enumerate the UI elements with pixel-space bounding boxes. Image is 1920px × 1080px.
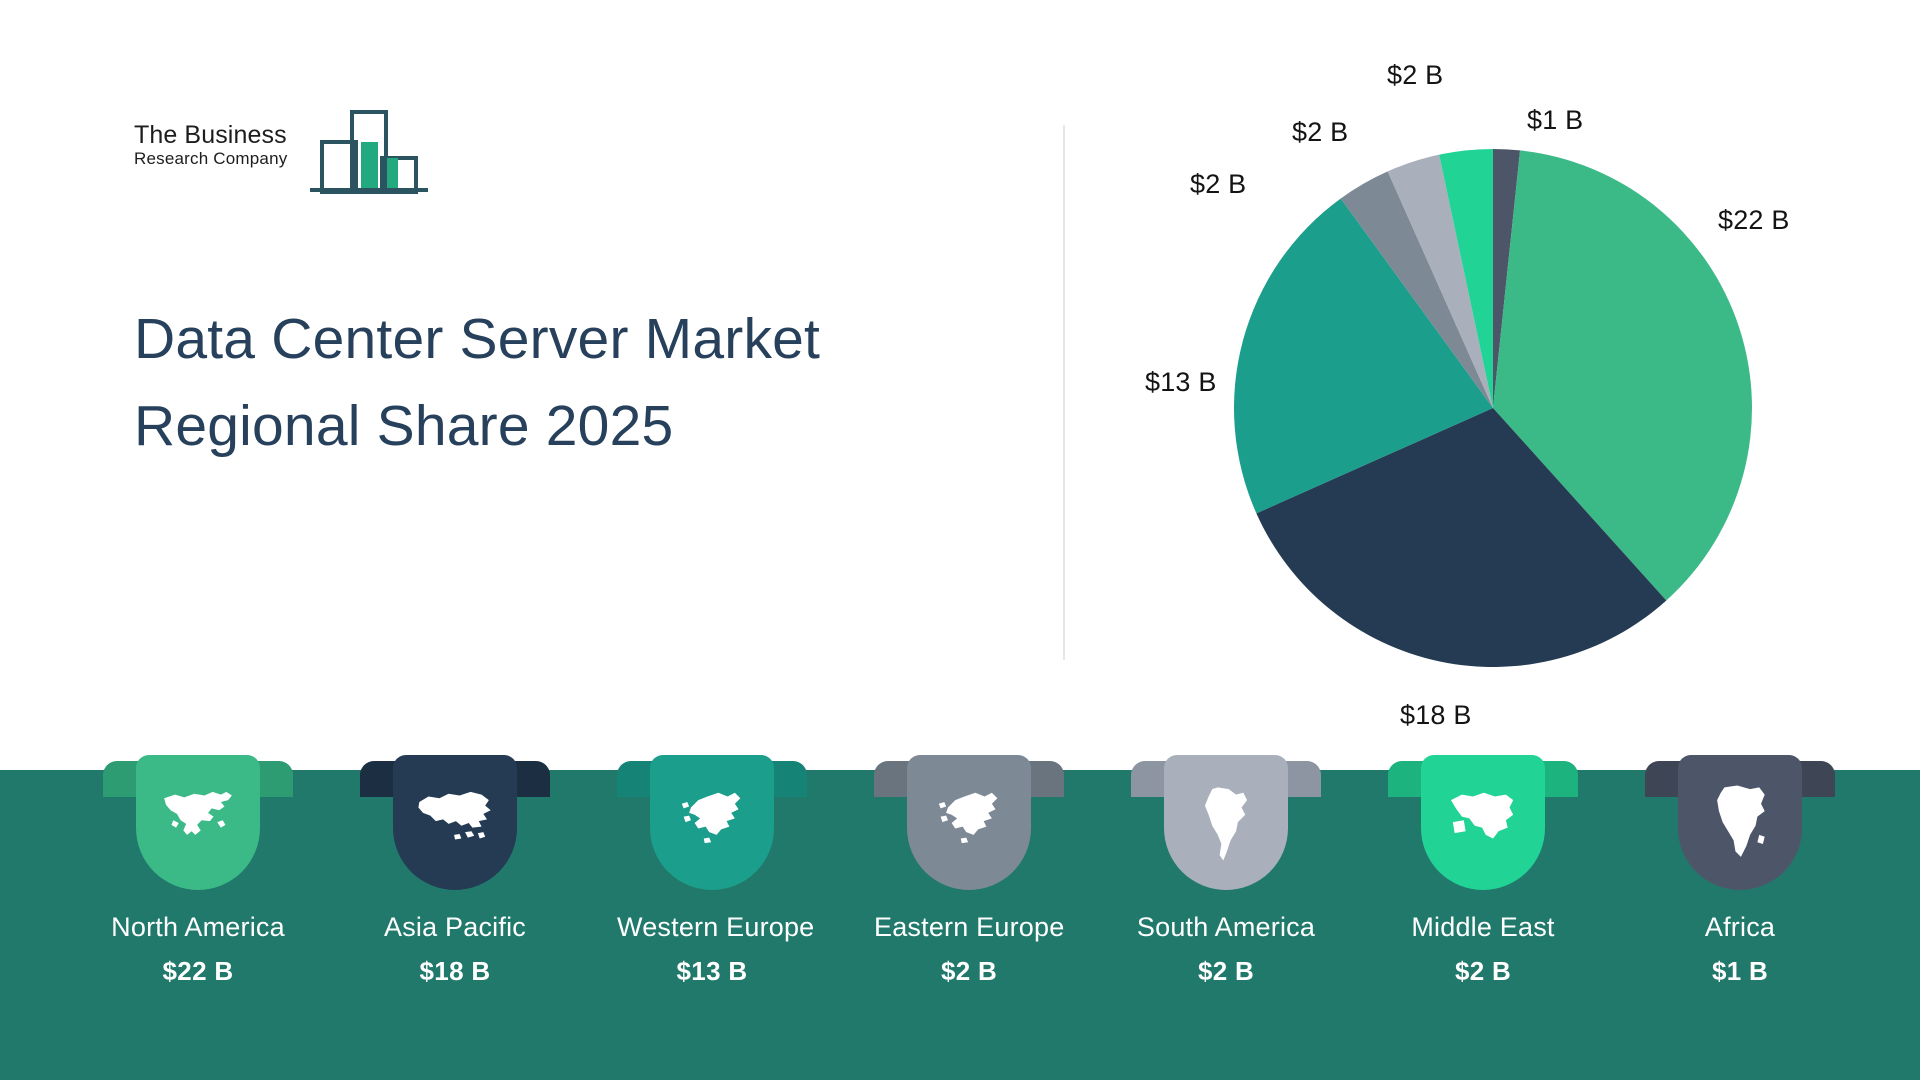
region-value-label: $22 B (103, 956, 293, 987)
pie-value-label: $2 B (1292, 117, 1348, 148)
region-name-label: Western Europe (617, 912, 807, 943)
logo-line-2: Research Company (134, 150, 314, 168)
pie-value-label: $2 B (1387, 60, 1443, 91)
pie-value-label: $18 B (1400, 700, 1472, 731)
logo-line-1: The Business (134, 122, 314, 148)
region-name-label: Eastern Europe (874, 912, 1064, 943)
region-name-label: North America (103, 912, 293, 943)
region-value-label: $2 B (1131, 956, 1321, 987)
logo-wordmark: The Business Research Company (134, 122, 314, 168)
region-badge-area (360, 755, 550, 890)
region-name-label: Middle East (1388, 912, 1578, 943)
region-value-label: $2 B (1388, 956, 1578, 987)
region-badge[interactable] (907, 755, 1031, 890)
region-badge-area (1131, 755, 1321, 890)
region-item-africa[interactable]: Africa$1 B (1645, 755, 1835, 987)
region-item-asia-pacific[interactable]: Asia Pacific$18 B (360, 755, 550, 987)
region-legend-row: North America$22 BAsia Pacific$18 BWeste… (0, 755, 1920, 1080)
region-item-eastern-europe[interactable]: Eastern Europe$2 B (874, 755, 1064, 987)
region-badge[interactable] (136, 755, 260, 890)
region-item-western-europe[interactable]: Western Europe$13 B (617, 755, 807, 987)
north-america-map-icon (155, 780, 241, 866)
region-value-label: $1 B (1645, 956, 1835, 987)
pie-value-label: $22 B (1718, 205, 1790, 236)
region-badge-area (103, 755, 293, 890)
region-item-middle-east[interactable]: Middle East$2 B (1388, 755, 1578, 987)
region-badge[interactable] (1164, 755, 1288, 890)
region-value-label: $2 B (874, 956, 1064, 987)
africa-map-icon (1697, 780, 1783, 866)
western-europe-map-icon (669, 780, 755, 866)
region-badge[interactable] (1678, 755, 1802, 890)
region-badge[interactable] (650, 755, 774, 890)
pie-chart-svg (1233, 148, 1753, 668)
asia-pacific-map-icon (412, 780, 498, 866)
region-badge-area (1388, 755, 1578, 890)
region-name-label: South America (1131, 912, 1321, 943)
middle-east-map-icon (1440, 780, 1526, 866)
pie-value-label: $2 B (1190, 169, 1246, 200)
region-badge-area (1645, 755, 1835, 890)
region-badge[interactable] (1421, 755, 1545, 890)
region-item-south-america[interactable]: South America$2 B (1131, 755, 1321, 987)
region-badge-area (874, 755, 1064, 890)
region-badge-area (617, 755, 807, 890)
region-name-label: Asia Pacific (360, 912, 550, 943)
pie-value-label: $13 B (1145, 367, 1217, 398)
pie-value-label: $1 B (1527, 105, 1583, 136)
region-value-label: $18 B (360, 956, 550, 987)
vertical-divider (1063, 125, 1065, 660)
region-name-label: Africa (1645, 912, 1835, 943)
region-badge[interactable] (393, 755, 517, 890)
region-item-north-america[interactable]: North America$22 B (103, 755, 293, 987)
south-america-map-icon (1183, 780, 1269, 866)
eastern-europe-map-icon (926, 780, 1012, 866)
region-value-label: $13 B (617, 956, 807, 987)
pie-chart (1233, 148, 1753, 668)
page-title: Data Center Server Market Regional Share… (134, 296, 934, 469)
bar-chart-logo-icon (310, 108, 428, 201)
company-logo: The Business Research Company (134, 108, 424, 198)
